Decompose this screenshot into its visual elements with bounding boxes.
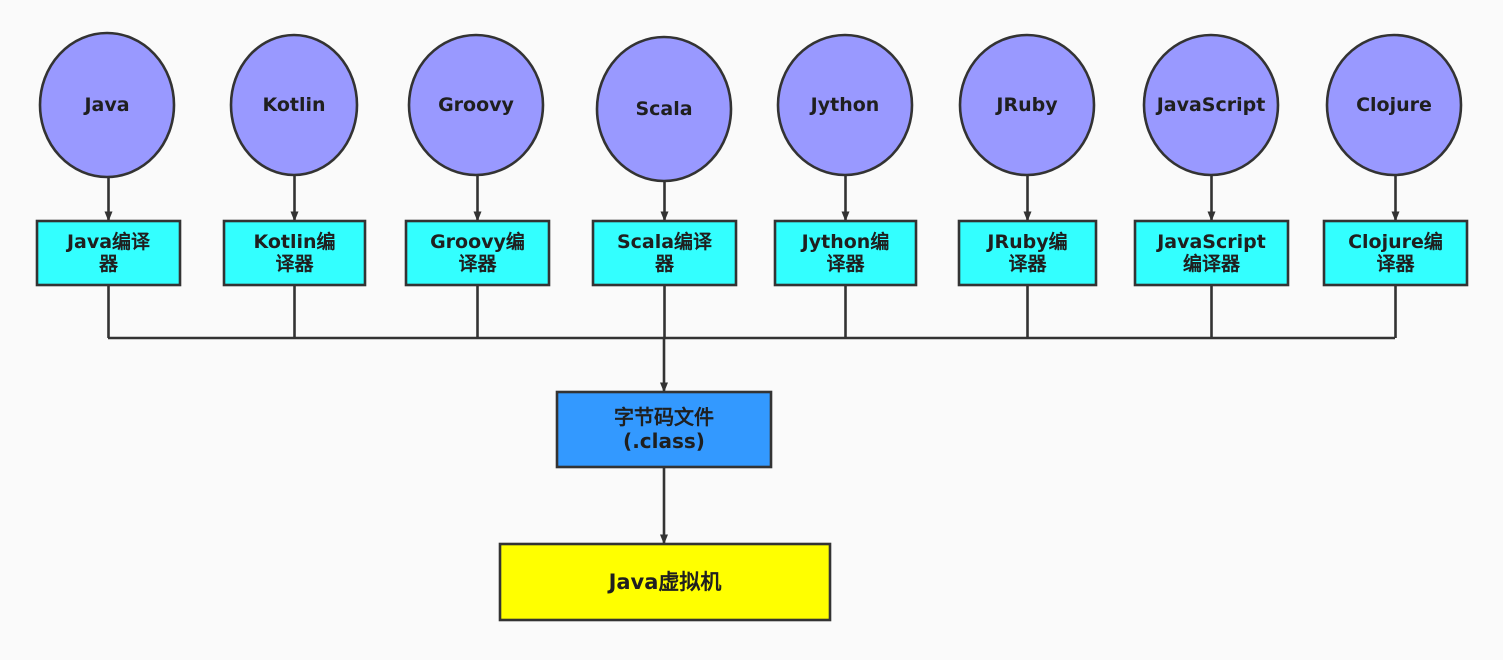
compiler-box-scala[interactable] (593, 221, 736, 285)
compiler-box-java[interactable] (37, 221, 180, 285)
language-circle-jruby[interactable] (960, 35, 1094, 175)
compiler-box-clojure[interactable] (1324, 221, 1467, 285)
compiler-box-kotlin[interactable] (224, 221, 365, 285)
language-circle-javascript[interactable] (1144, 35, 1278, 175)
language-circle-groovy[interactable] (409, 35, 543, 175)
jvm-box[interactable] (500, 544, 830, 620)
compiler-box-jython[interactable] (775, 221, 916, 285)
language-circles (40, 33, 1461, 181)
diagram-canvas (0, 0, 1503, 660)
compiler-box-jruby[interactable] (959, 221, 1096, 285)
compiler-box-javascript[interactable] (1135, 221, 1288, 285)
edges-language-to-compiler (109, 175, 1396, 220)
language-circle-kotlin[interactable] (231, 35, 357, 175)
compiler-box-groovy[interactable] (406, 221, 549, 285)
language-circle-jython[interactable] (778, 35, 912, 175)
compiler-boxes (37, 221, 1467, 285)
edges-compiler-bus (108, 285, 1396, 338)
language-circle-java[interactable] (40, 33, 174, 177)
language-circle-clojure[interactable] (1327, 35, 1461, 175)
language-circle-scala[interactable] (597, 37, 731, 181)
bytecode-box[interactable] (557, 392, 771, 467)
jvm-languages-diagram: JavaKotlinGroovyScalaJythonJRubyJavaScri… (0, 0, 1503, 660)
